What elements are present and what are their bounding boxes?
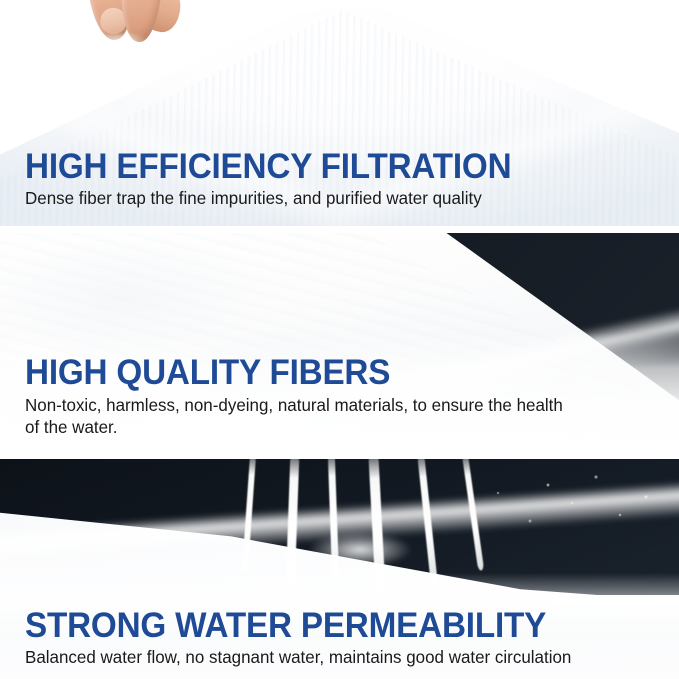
panel-3-subline: Balanced water flow, no stagnant water, … — [25, 646, 646, 669]
panel-3-caption-block: STRONG WATER PERMEABILITY Balanced water… — [25, 608, 665, 669]
water-splash-highlight — [300, 529, 420, 575]
product-feature-infographic: HIGH EFFICIENCY FILTRATION Dense fiber t… — [0, 0, 679, 679]
panel-2-caption-block: HIGH QUALITY FIBERS Non-toxic, harmless,… — [25, 355, 665, 439]
panel-2-headline: HIGH QUALITY FIBERS — [25, 355, 633, 391]
panel-divider-1 — [0, 226, 679, 233]
feature-panel-high-efficiency-filtration: HIGH EFFICIENCY FILTRATION Dense fiber t… — [0, 0, 679, 226]
panel-1-caption-block: HIGH EFFICIENCY FILTRATION Dense fiber t… — [25, 149, 665, 210]
feature-panel-high-quality-fibers: HIGH QUALITY FIBERS Non-toxic, harmless,… — [0, 233, 679, 451]
panel-1-headline: HIGH EFFICIENCY FILTRATION — [25, 149, 633, 185]
panel-divider-2 — [0, 451, 679, 459]
panel-3-headline: STRONG WATER PERMEABILITY — [25, 608, 633, 644]
panel-2-subline: Non-toxic, harmless, non-dyeing, natural… — [25, 394, 568, 440]
pinched-fiber-wisp — [96, 34, 156, 74]
feature-panel-strong-water-permeability: STRONG WATER PERMEABILITY Balanced water… — [0, 459, 679, 679]
panel-1-subline: Dense fiber trap the fine impurities, an… — [25, 187, 646, 210]
